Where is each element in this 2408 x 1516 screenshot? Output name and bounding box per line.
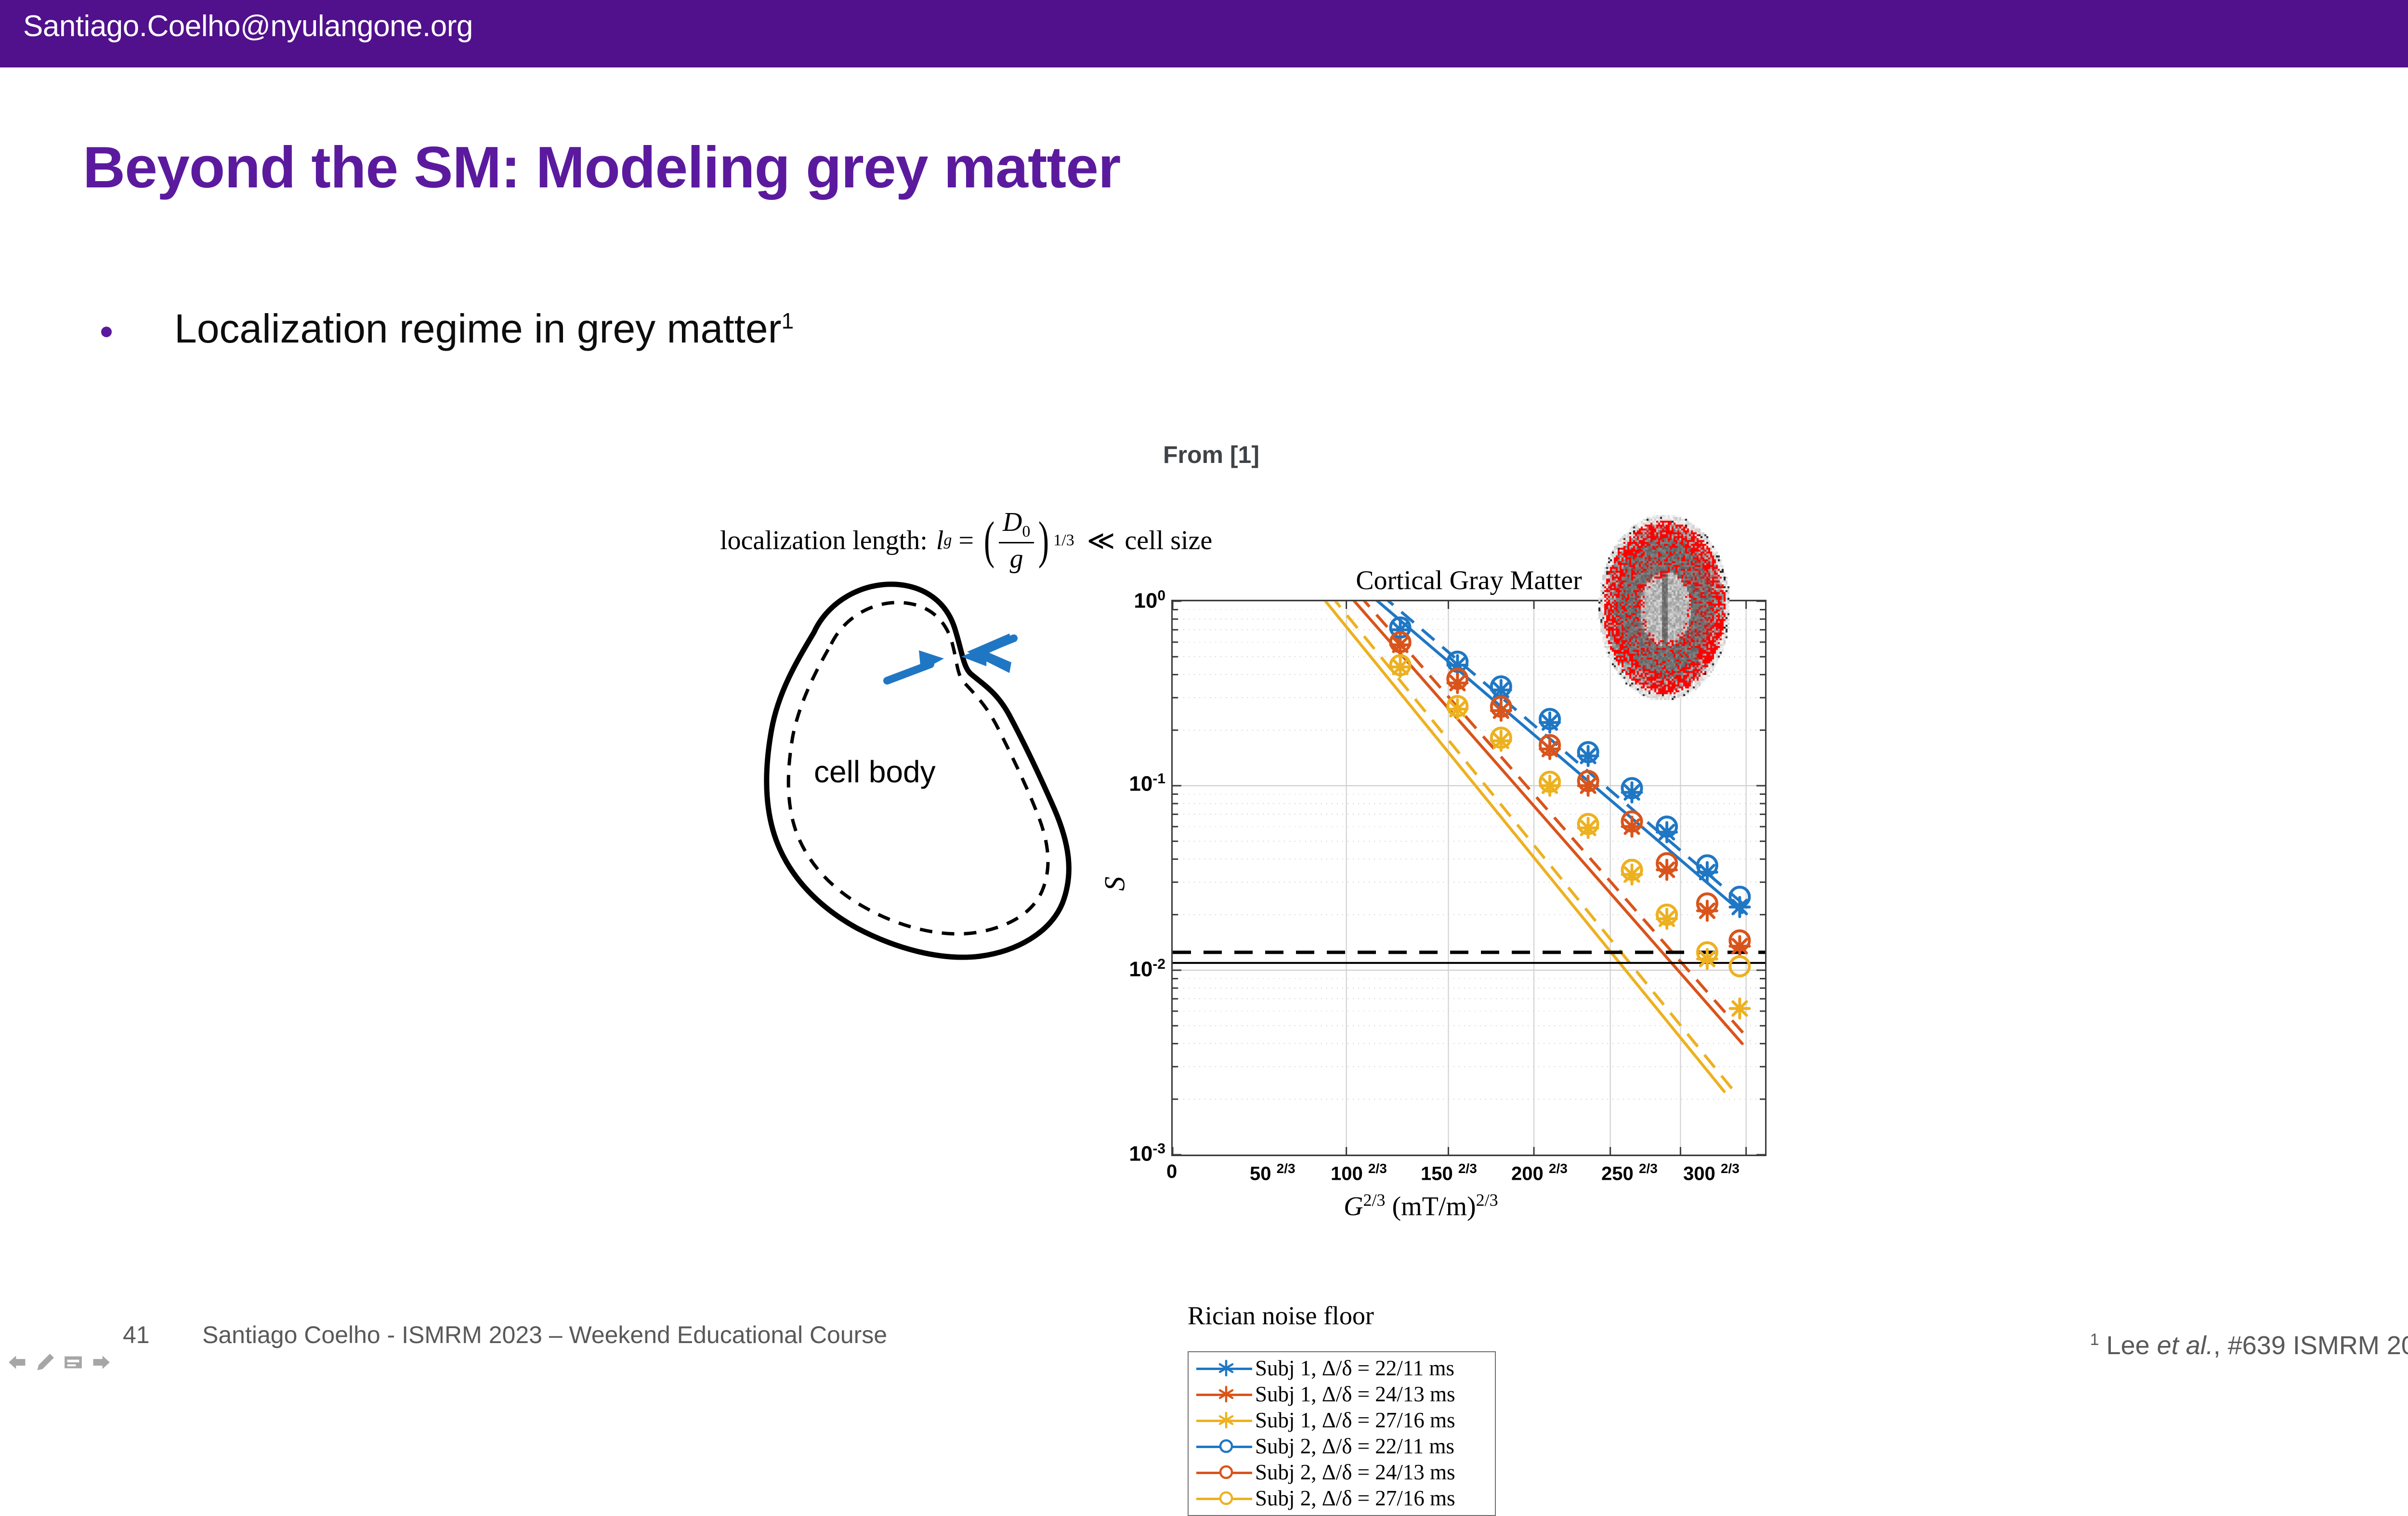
formula-fraction: D0 g	[999, 508, 1034, 573]
bullet-dot-icon	[101, 327, 112, 337]
brain-mri-gm-mask-image	[1587, 494, 1736, 701]
bullet-item-text: Localization regime in grey matter1	[174, 308, 794, 349]
x-tick-0: 0	[1166, 1161, 1177, 1183]
formula-fraction-bar	[999, 542, 1034, 543]
formula-lhs: l	[936, 525, 944, 556]
asterisk-icon	[1217, 1359, 1235, 1377]
page-title: Beyond the SM: Modeling grey matter	[83, 138, 1120, 197]
formula-equals: =	[958, 525, 974, 556]
footer-course-text: Santiago Coelho - ISMRM 2023 – Weekend E…	[202, 1321, 887, 1349]
legend-item[interactable]: Subj 2, Δ/δ = 24/13 ms	[1193, 1459, 1490, 1485]
y-tick-1e-2: 10-2	[1093, 956, 1165, 982]
footnote-superscript: 1	[2090, 1331, 2099, 1349]
next-slide-icon[interactable]	[91, 1352, 112, 1373]
asterisk-icon	[1217, 1385, 1235, 1403]
chart-legend: Subj 1, Δ/δ = 22/11 ms Subj 1, Δ/δ = 24/…	[1188, 1351, 1496, 1516]
previous-slide-icon[interactable]	[7, 1352, 28, 1373]
formula-numerator-sub: 0	[1022, 523, 1030, 540]
bullet-list: Localization regime in grey matter1	[101, 308, 794, 349]
legend-label: Subj 2, Δ/δ = 22/11 ms	[1255, 1434, 1454, 1459]
circle-icon	[1217, 1463, 1235, 1481]
asterisk-icon	[1217, 1411, 1235, 1429]
legend-item[interactable]: Subj 2, Δ/δ = 22/11 ms	[1193, 1433, 1490, 1459]
cell-body-label: cell body	[814, 754, 936, 790]
footer-page-number: 41	[123, 1321, 150, 1349]
localization-arrows	[887, 633, 1014, 681]
formula-left-paren: (	[984, 525, 995, 557]
footnote-reference: 1 Lee et al., #639 ISMRM 2021	[2090, 1331, 2408, 1360]
x-tick-200: 200 2/3	[1511, 1161, 1568, 1185]
x-tick-50: 50 2/3	[1250, 1161, 1296, 1185]
chart-x-axis-label: G2/3 (mT/m)2/3	[1344, 1190, 1498, 1222]
formula-rhs: cell size	[1125, 525, 1212, 556]
formula-relation: ≪	[1087, 525, 1115, 556]
rician-noise-floor-label: Rician noise floor	[1188, 1301, 1374, 1331]
circle-icon	[1217, 1437, 1235, 1455]
legend-item[interactable]: Subj 1, Δ/δ = 24/13 ms	[1193, 1381, 1490, 1407]
chart-y-axis-label: S	[1099, 877, 1132, 891]
chart-title: Cortical Gray Matter	[1334, 565, 1604, 596]
x-tick-150: 150 2/3	[1421, 1161, 1477, 1185]
legend-item[interactable]: Subj 1, Δ/δ = 22/11 ms	[1193, 1355, 1490, 1381]
legend-label: Subj 1, Δ/δ = 24/13 ms	[1255, 1382, 1455, 1407]
x-tick-100: 100 2/3	[1331, 1161, 1387, 1185]
bullet-label: Localization regime in grey matter	[174, 306, 782, 351]
legend-swatch	[1193, 1485, 1255, 1511]
legend-swatch	[1193, 1459, 1255, 1485]
formula-exponent: 1/3	[1053, 531, 1074, 550]
legend-swatch	[1193, 1355, 1255, 1381]
legend-item[interactable]: Subj 1, Δ/δ = 27/16 ms	[1193, 1407, 1490, 1433]
formula-lhs-sub: g	[943, 531, 952, 550]
formula-right-paren: )	[1038, 525, 1049, 557]
legend-swatch	[1193, 1407, 1255, 1433]
y-tick-1e-1: 10-1	[1093, 771, 1165, 796]
bullet-superscript: 1	[782, 308, 794, 333]
circle-icon	[1217, 1490, 1235, 1507]
footnote-pre: Lee	[2099, 1331, 2157, 1360]
legend-label: Subj 2, Δ/δ = 27/16 ms	[1255, 1486, 1455, 1511]
slide-menu-icon[interactable]	[63, 1352, 84, 1373]
y-tick-1e-3: 10-3	[1093, 1141, 1165, 1166]
legend-label: Subj 1, Δ/δ = 27/16 ms	[1255, 1408, 1455, 1433]
footnote-italic: et al.	[2157, 1331, 2213, 1360]
legend-label: Subj 1, Δ/δ = 22/11 ms	[1255, 1356, 1454, 1381]
legend-label: Subj 2, Δ/δ = 24/13 ms	[1255, 1460, 1455, 1485]
formula-prefix: localization length:	[720, 525, 928, 556]
figure-source-caption: From [1]	[1163, 441, 1259, 469]
slide-nav-controls[interactable]	[7, 1352, 112, 1373]
pen-icon[interactable]	[35, 1352, 56, 1373]
y-tick-1e0: 100	[1093, 588, 1165, 613]
x-tick-300: 300 2/3	[1683, 1161, 1740, 1185]
header-email-text: Santiago.Coelho@nyulangone.org	[23, 12, 473, 41]
legend-swatch	[1193, 1381, 1255, 1407]
formula-numerator: D	[1003, 507, 1022, 537]
legend-item[interactable]: Subj 2, Δ/δ = 27/16 ms	[1193, 1485, 1490, 1511]
formula-denominator: g	[1006, 545, 1027, 573]
x-tick-250: 250 2/3	[1601, 1161, 1658, 1185]
footnote-post: , #639 ISMRM 2021	[2213, 1331, 2408, 1360]
legend-swatch	[1193, 1433, 1255, 1459]
